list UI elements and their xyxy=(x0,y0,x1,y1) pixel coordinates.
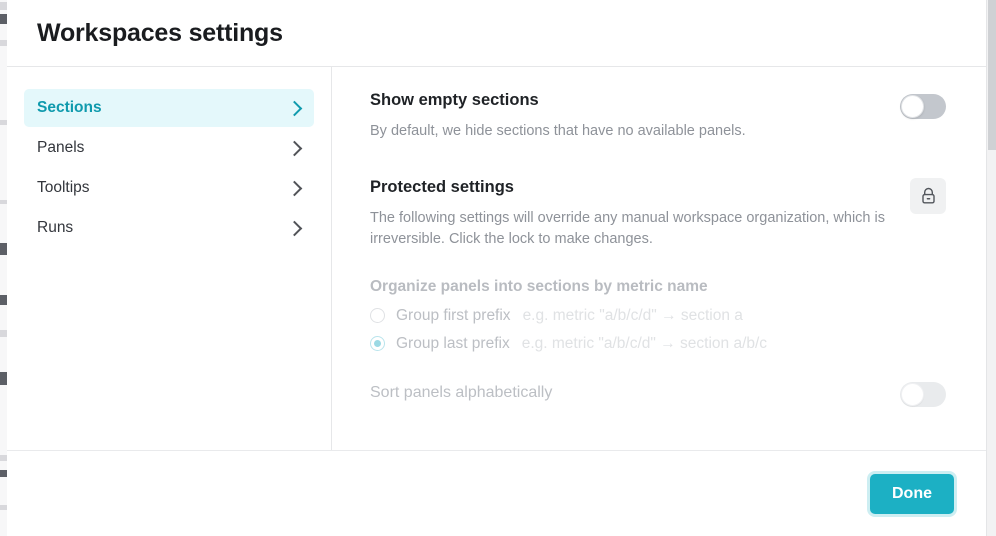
chevron-right-icon xyxy=(287,100,303,116)
protected-settings-title: Protected settings xyxy=(370,178,900,198)
lock-closed-icon xyxy=(920,187,937,205)
radio-hint: e.g. metric "a/b/c/d" → section a/b/c xyxy=(522,335,767,353)
radio-icon-checked xyxy=(370,336,385,351)
sidebar-item-label: Sections xyxy=(37,99,102,117)
organize-panels-label: Organize panels into sections by metric … xyxy=(370,278,946,296)
radio-option-group-first-prefix[interactable]: Group first prefix e.g. metric "a/b/c/d"… xyxy=(370,307,946,325)
protected-settings-description: The following settings will override any… xyxy=(370,208,900,250)
show-empty-sections-description: By default, we hide sections that have n… xyxy=(370,121,746,142)
sidebar-item-sections[interactable]: Sections xyxy=(24,89,314,127)
done-button[interactable]: Done xyxy=(870,474,954,514)
chevron-right-icon xyxy=(287,180,303,196)
vertical-scrollbar[interactable] xyxy=(986,0,996,536)
sidebar-item-panels[interactable]: Panels xyxy=(24,129,314,167)
chevron-right-icon xyxy=(287,140,303,156)
sidebar-item-label: Runs xyxy=(37,219,73,237)
page-title: Workspaces settings xyxy=(37,19,283,48)
radio-icon-unchecked xyxy=(370,308,385,323)
radio-label: Group last prefix xyxy=(396,335,510,353)
sidebar-item-tooltips[interactable]: Tooltips xyxy=(24,169,314,207)
protected-settings-texts: Protected settings The following setting… xyxy=(370,178,900,250)
protected-settings-row: Protected settings The following setting… xyxy=(370,178,946,250)
chevron-right-icon xyxy=(287,220,303,236)
sidebar-item-label: Tooltips xyxy=(37,179,90,197)
settings-content: Show empty sections By default, we hide … xyxy=(332,67,986,450)
sort-panels-label: Sort panels alphabetically xyxy=(370,384,552,402)
scrollbar-thumb[interactable] xyxy=(988,0,996,150)
show-empty-sections-row: Show empty sections By default, we hide … xyxy=(370,91,946,142)
settings-sidebar: Sections Panels Tooltips Runs xyxy=(7,67,332,450)
sidebar-item-label: Panels xyxy=(37,139,84,157)
show-empty-sections-title: Show empty sections xyxy=(370,91,746,111)
show-empty-sections-texts: Show empty sections By default, we hide … xyxy=(370,91,746,142)
toggle-knob xyxy=(901,383,924,406)
toggle-knob xyxy=(901,95,924,118)
workspaces-settings-modal: Workspaces settings Sections Panels Tool… xyxy=(7,0,986,536)
modal-body: Sections Panels Tooltips Runs Show em xyxy=(7,67,986,450)
sort-panels-toggle[interactable] xyxy=(900,382,946,407)
organize-panels-group: Organize panels into sections by metric … xyxy=(370,278,946,407)
radio-hint: e.g. metric "a/b/c/d" → section a xyxy=(523,307,743,325)
radio-label: Group first prefix xyxy=(396,307,511,325)
background-page-strip xyxy=(0,0,7,536)
sidebar-item-runs[interactable]: Runs xyxy=(24,209,314,247)
modal-header: Workspaces settings xyxy=(7,0,986,67)
show-empty-sections-toggle[interactable] xyxy=(900,94,946,119)
modal-footer: Done xyxy=(7,450,986,536)
lock-toggle-button[interactable] xyxy=(910,178,946,214)
sort-panels-row: Sort panels alphabetically xyxy=(370,379,946,407)
radio-option-group-last-prefix[interactable]: Group last prefix e.g. metric "a/b/c/d" … xyxy=(370,335,946,353)
section-spacer xyxy=(370,142,946,178)
